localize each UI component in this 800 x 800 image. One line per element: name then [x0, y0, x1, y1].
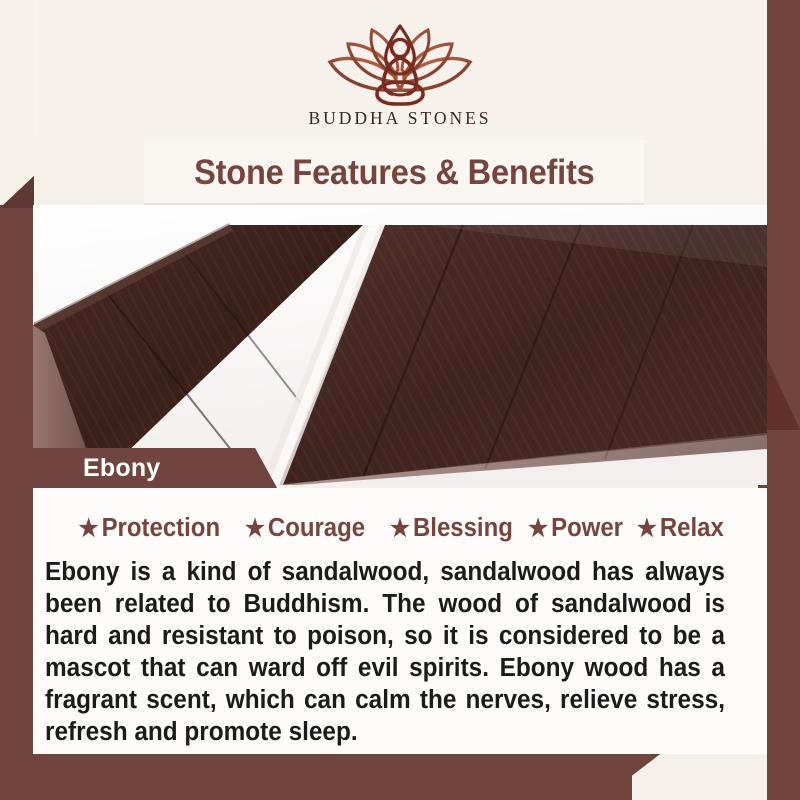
brand-name: BUDDHA STONES	[308, 108, 491, 129]
benefit-item-power: ★ Power	[528, 514, 623, 543]
benefit-label: Protection	[101, 514, 220, 543]
brand-header: BUDDHA STONES	[33, 0, 767, 143]
description-text: Ebony is a kind of sandalwood, sandalwoo…	[45, 556, 725, 748]
star-icon: ★	[78, 517, 98, 541]
frame-bottom-left-corner	[0, 740, 34, 800]
brand-logo: BUDDHA STONES	[33, 18, 767, 129]
page-title: Stone Features & Benefits	[194, 153, 595, 193]
frame-bottom-diagonal	[600, 754, 660, 800]
product-label-diagonal	[255, 448, 277, 488]
star-icon: ★	[637, 517, 657, 541]
benefit-label: Courage	[268, 514, 365, 543]
benefit-item-courage: ★ Courage	[245, 514, 365, 543]
frame-bottom-bar	[0, 754, 632, 800]
frame-left-corner-notch	[0, 176, 34, 208]
product-label-banner: Ebony	[33, 448, 255, 488]
benefits-row: ★ Protection ★ Courage ★ Blessing ★ Powe…	[33, 514, 767, 543]
lotus-meditation-icon	[314, 18, 486, 106]
title-banner: Stone Features & Benefits	[144, 140, 644, 205]
benefit-label: Power	[551, 514, 623, 543]
star-icon: ★	[528, 517, 548, 541]
details-card: ★ Protection ★ Courage ★ Blessing ★ Powe…	[33, 488, 767, 754]
benefit-label: Relax	[660, 514, 724, 543]
ebony-wood-planks-photo	[33, 205, 767, 485]
benefit-item-relax: ★ Relax	[637, 514, 724, 543]
product-photo	[33, 205, 767, 485]
benefit-item-protection: ★ Protection	[78, 514, 220, 543]
product-label: Ebony	[83, 454, 160, 483]
star-icon: ★	[245, 517, 265, 541]
star-icon: ★	[390, 517, 410, 541]
infographic-page: BUDDHA STONES Stone Features & Benefits	[0, 0, 800, 800]
benefit-label: Blessing	[413, 514, 513, 543]
frame-left-bar	[0, 205, 33, 800]
benefit-item-blessing: ★ Blessing	[390, 514, 513, 543]
